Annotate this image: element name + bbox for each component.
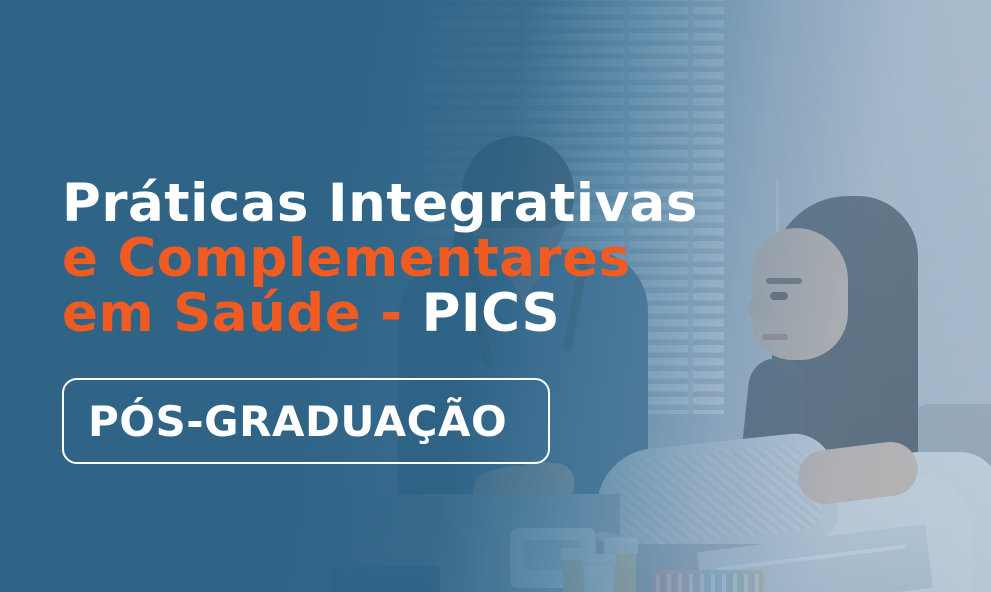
title-line-2: e Complementares bbox=[62, 231, 698, 286]
title-line-1: Práticas Integrativas bbox=[62, 176, 698, 231]
title-line-3-prefix: em Saúde - bbox=[62, 283, 422, 344]
title-line-3: em Saúde - PICS bbox=[62, 286, 698, 341]
course-promo-banner: Práticas Integrativas e Complementares e… bbox=[0, 0, 991, 592]
program-type-badge: PÓS-GRADUAÇÃO bbox=[62, 378, 550, 464]
title-line-3-acronym: PICS bbox=[422, 283, 561, 344]
program-type-label: PÓS-GRADUAÇÃO bbox=[88, 397, 507, 446]
banner-content: Práticas Integrativas e Complementares e… bbox=[0, 0, 991, 592]
course-title: Práticas Integrativas e Complementares e… bbox=[62, 176, 698, 341]
